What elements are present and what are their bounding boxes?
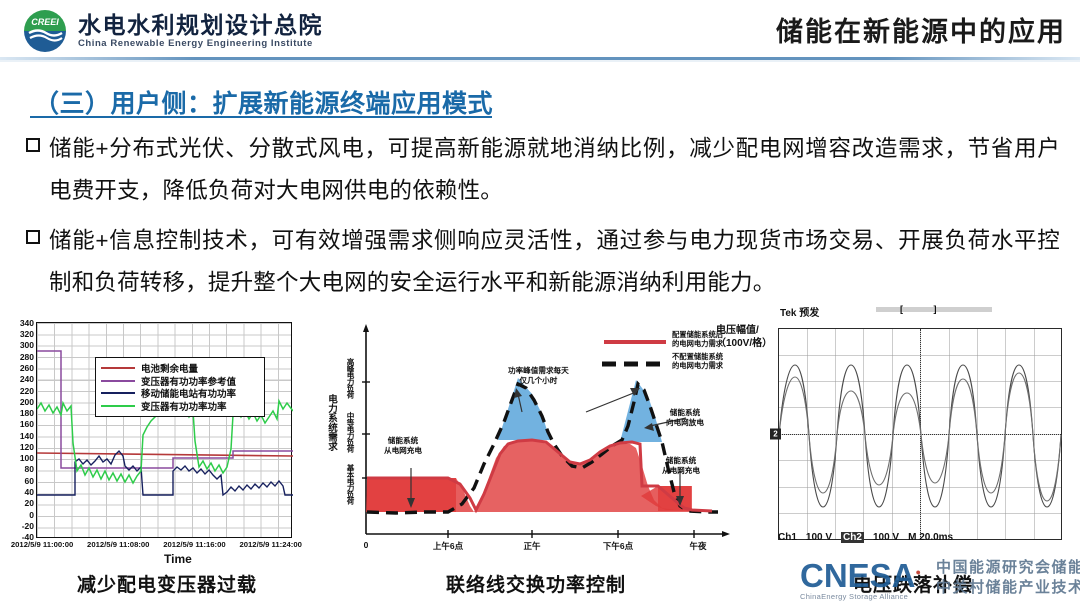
list-item: 储能+分布式光伏、分散式风电，可提高新能源就地消纳比例，减少配电网增容改造需求，… xyxy=(26,128,1060,212)
cnesa-brand-dot-icon: ● xyxy=(916,567,921,577)
legend-item: 变压器有功功率参考值 xyxy=(101,375,259,388)
annotation-line: 储能系统 xyxy=(388,436,418,445)
y-tick: 0 xyxy=(29,511,34,519)
logo-text-block: 水电水利规划设计总院 China Renewable Energy Engine… xyxy=(78,13,323,50)
x-axis-label: 上午6点 xyxy=(433,540,463,552)
annotation-line: 功率峰值需求每天 xyxy=(508,366,569,375)
bullet-list: 储能+分布式光伏、分散式风电，可提高新能源就地消纳比例，减少配电网增容改造需求，… xyxy=(26,128,1060,312)
legend-swatch xyxy=(101,405,135,407)
y-tick: 220 xyxy=(20,387,34,395)
cnesa-org-names: 中国能源研究会储能专委会 中关村储能产业技术联盟 xyxy=(936,558,1080,598)
annotation-line: 储能系统 xyxy=(670,408,700,417)
cnesa-watermark: CNESA● ChinaEnergy Storage Alliance 中国能源… xyxy=(800,556,1080,606)
y-tick: 120 xyxy=(20,443,34,451)
y-tick: 60 xyxy=(25,477,34,485)
legend-label: 不配置储能系统 xyxy=(672,352,723,361)
y-tick: 100 xyxy=(20,454,34,462)
annotation-line: 从电网充电 xyxy=(384,446,422,455)
annotation-line: 储能系统 xyxy=(666,456,696,465)
y-tick: 80 xyxy=(25,465,34,473)
legend-swatch xyxy=(101,380,135,382)
y-tick: 180 xyxy=(20,409,34,417)
cnesa-org-line: 中国能源研究会储能专委会 xyxy=(936,559,1080,576)
list-item: 储能+信息控制技术，可有效增强需求侧响应灵活性，通过参与电力现货市场交易、开展负… xyxy=(26,220,1060,304)
square-bullet-icon xyxy=(26,138,40,152)
legend-label: 的电网电力需求 xyxy=(672,361,723,370)
annotation-line: 从电网充电 xyxy=(662,466,700,475)
svg-text:CREEI: CREEI xyxy=(31,17,59,27)
annotation-line: 仅几个小时 xyxy=(519,376,557,385)
y-tick: 340 xyxy=(20,319,34,327)
y-tick: 260 xyxy=(20,364,34,372)
y-tick: 200 xyxy=(20,398,34,406)
legend-item: 变压器有功功率功率 xyxy=(101,400,259,413)
x-axis-label: 下午6点 xyxy=(603,540,633,552)
y-axis-band-label: 中等电力负荷 xyxy=(346,412,355,452)
y-tick: -20 xyxy=(22,522,34,530)
cnesa-brand-text: CNESA xyxy=(800,557,916,594)
status-timebase: M 20.0ms xyxy=(908,532,953,543)
logo-title-cn: 水电水利规划设计总院 xyxy=(78,13,323,38)
figure1-plot-area: 340 320 300 280 260 240 220 200 180 160 … xyxy=(36,322,292,538)
annotation-peak-demand: 功率峰值需求每天 仅几个小时 xyxy=(508,366,569,385)
legend-item: 电池剩余电量 xyxy=(101,362,259,375)
annotation-line: 向电网放电 xyxy=(666,418,704,427)
square-bullet-icon xyxy=(26,230,40,244)
figure1-caption: 减少配电变压器过载 xyxy=(6,570,328,597)
x-tick: 2012/5/9 11:00:00 xyxy=(11,540,73,549)
bullet-text: 储能+分布式光伏、分散式风电，可提高新能源就地消纳比例，减少配电网增容改造需求，… xyxy=(49,128,1060,212)
figure1-legend: 电池剩余电量 变压器有功功率参考值 移动储能电站有功功率 变压器有功功率功率 xyxy=(95,357,265,417)
figure1-series xyxy=(37,323,293,539)
y-tick: 40 xyxy=(25,488,34,496)
figure2-caption: 联络线交换功率控制 xyxy=(336,570,736,597)
x-axis-label: 正午 xyxy=(523,540,540,552)
section-heading: （三）用户侧：扩展新能源终端应用模式 xyxy=(34,84,493,120)
legend-item: 移动储能电站有功功率 xyxy=(101,387,259,400)
figure-voltage-sag-compensation: 2 Tek 预发 [ ] 电压幅值/ （100V/格） Ch1 100 V Ch… xyxy=(748,316,1078,566)
section-heading-underline xyxy=(30,116,492,118)
figure-tieline-power-control: 电力系统需求 高峰电力负荷 中等电力负荷 基本电力负荷 0 上午6点 正午 下午… xyxy=(336,316,736,566)
figure2-y-axis-title: 电力系统需求 xyxy=(324,394,338,451)
slide: CREEI 水电水利规划设计总院 China Renewable Energy … xyxy=(0,0,1080,608)
x-axis-label: 午夜 xyxy=(689,540,706,552)
y-axis-band-label: 基本电力负荷 xyxy=(346,464,355,504)
legend-swatch xyxy=(101,392,135,394)
annotation-charge-right: 储能系统 从电网充电 xyxy=(662,456,700,475)
oscilloscope-title: Tek 预发 xyxy=(780,304,819,319)
status-ch1-scale: 100 V xyxy=(806,532,832,543)
logo-title-en: China Renewable Energy Engineering Insti… xyxy=(78,38,323,50)
y-tick: 300 xyxy=(20,341,34,349)
figure1-x-axis-title: Time xyxy=(164,552,192,566)
oscilloscope-bracket-markers: [ ] xyxy=(900,304,951,314)
annotation-charge-left: 储能系统 从电网充电 xyxy=(384,436,422,455)
channel2-marker-icon: 2 xyxy=(770,429,781,440)
creei-logo: CREEI 水电水利规划设计总院 China Renewable Energy … xyxy=(22,8,323,54)
annotation-discharge: 储能系统 向电网放电 xyxy=(666,408,704,427)
oscilloscope-y-axis-label: 电压幅值/ （100V/格） xyxy=(716,324,772,350)
y-tick: 280 xyxy=(20,353,34,361)
oscilloscope-screen: 2 xyxy=(778,328,1062,540)
legend-label: 变压器有功功率功率 xyxy=(141,399,227,413)
status-ch2-scale: 100 V xyxy=(873,532,899,543)
header-divider-secondary xyxy=(0,60,1080,62)
page-title: 储能在新能源中的应用 xyxy=(776,10,1066,49)
x-tick: 2012/5/9 11:16:00 xyxy=(163,540,225,549)
y-label-line: （100V/格） xyxy=(716,338,772,349)
y-label-line: 电压幅值/ xyxy=(716,325,759,336)
creei-logo-icon: CREEI xyxy=(22,8,68,54)
y-axis-band-label: 高峰电力负荷 xyxy=(346,358,355,398)
oscilloscope-waveforms xyxy=(779,329,1063,541)
figure-transformer-overload: 340 320 300 280 260 240 220 200 180 160 … xyxy=(6,316,328,566)
status-ch1-label: Ch1 xyxy=(778,532,797,543)
cnesa-org-line: 中关村储能产业技术联盟 xyxy=(936,579,1080,596)
x-tick: 2012/5/9 11:24:00 xyxy=(239,540,301,549)
status-ch2-label: Ch2 xyxy=(841,532,864,543)
y-tick: 140 xyxy=(20,432,34,440)
y-tick: 320 xyxy=(20,330,34,338)
slide-header: CREEI 水电水利规划设计总院 China Renewable Energy … xyxy=(0,0,1080,56)
y-tick: 160 xyxy=(20,420,34,428)
bullet-text: 储能+信息控制技术，可有效增强需求侧响应灵活性，通过参与电力现货市场交易、开展负… xyxy=(49,220,1060,304)
x-tick: 2012/5/9 11:08:00 xyxy=(87,540,149,549)
x-axis-label: 0 xyxy=(364,540,369,550)
legend-swatch xyxy=(101,367,135,369)
oscilloscope-status-bar: Ch1 100 V Ch2 100 V M 20.0ms xyxy=(778,530,1080,544)
figure2-legend-item-without-storage: 不配置储能系统 的电网电力需求 xyxy=(672,352,723,370)
y-tick: 240 xyxy=(20,375,34,383)
y-tick: 20 xyxy=(25,499,34,507)
